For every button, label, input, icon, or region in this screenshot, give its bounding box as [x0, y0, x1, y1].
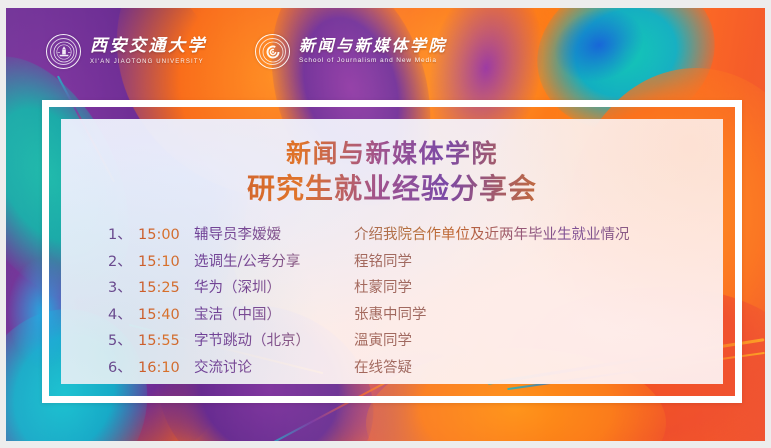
agenda-time: 15:55 — [138, 333, 194, 349]
agenda-time: 15:10 — [138, 254, 194, 270]
logo-school-en: School of Journalism and New Media — [299, 58, 447, 65]
poster-frame-inner: 新闻与新媒体学院 研究生就业经验分享会 1、 15:00 辅导员李嫒嫒 介绍我院… — [61, 119, 723, 384]
logo-xjtu-text: 西安交通大学 XI'AN JIAOTONG UNIVERSITY — [90, 38, 207, 65]
poster-content: 新闻与新媒体学院 研究生就业经验分享会 1、 15:00 辅导员李嫒嫒 介绍我院… — [61, 119, 723, 384]
title-line-1: 新闻与新媒体学院 — [61, 139, 723, 170]
agenda-index: 1、 — [108, 223, 138, 244]
agenda-index: 2、 — [108, 250, 138, 271]
title-line-2: 研究生就业经验分享会 — [61, 172, 723, 206]
agenda-speaker: 杜蒙同学 — [354, 276, 699, 297]
agenda-list: 1、 15:00 辅导员李嫒嫒 介绍我院合作单位及近两年毕业生就业情况 2、 1… — [108, 223, 699, 382]
agenda-topic: 字节跳动（北京） — [194, 329, 354, 350]
logo-school-journalism-new-media: 新闻与新媒体学院 School of Journalism and New Me… — [255, 34, 447, 69]
agenda-row: 5、 15:55 字节跳动（北京） 溫寅同学 — [108, 329, 699, 356]
agenda-time: 15:25 — [138, 280, 194, 296]
agenda-row: 4、 15:40 宝洁（中国） 张惠中同学 — [108, 303, 699, 330]
agenda-row: 3、 15:25 华为（深圳） 杜蒙同学 — [108, 276, 699, 303]
agenda-topic: 辅导员李嫒嫒 — [194, 223, 354, 244]
agenda-speaker: 张惠中同学 — [354, 303, 699, 324]
agenda-speaker: 溫寅同学 — [354, 329, 699, 350]
logo-school-cn: 新闻与新媒体学院 — [299, 38, 447, 54]
header-logos: 西安交通大学 XI'AN JIAOTONG UNIVERSITY 新闻与新媒体学… — [46, 34, 447, 69]
agenda-index: 5、 — [108, 329, 138, 350]
agenda-speaker: 程铭同学 — [354, 250, 699, 271]
logo-school-text: 新闻与新媒体学院 School of Journalism and New Me… — [299, 38, 447, 65]
agenda-topic: 宝洁（中国） — [194, 303, 354, 324]
logo-xian-jiaotong-university: 西安交通大学 XI'AN JIAOTONG UNIVERSITY — [46, 34, 207, 69]
agenda-speaker: 在线答疑 — [354, 356, 699, 377]
agenda-speaker: 介绍我院合作单位及近两年毕业生就业情况 — [354, 223, 699, 244]
agenda-row: 1、 15:00 辅导员李嫒嫒 介绍我院合作单位及近两年毕业生就业情况 — [108, 223, 699, 250]
slide: 西安交通大学 XI'AN JIAOTONG UNIVERSITY 新闻与新媒体学… — [6, 8, 765, 441]
poster-title: 新闻与新媒体学院 研究生就业经验分享会 — [61, 139, 723, 206]
agenda-index: 4、 — [108, 303, 138, 324]
school-seal-icon — [255, 34, 290, 69]
agenda-index: 6、 — [108, 356, 138, 377]
agenda-row: 2、 15:10 选调生/公考分享 程铭同学 — [108, 250, 699, 277]
agenda-index: 3、 — [108, 276, 138, 297]
university-seal-icon — [46, 34, 81, 69]
agenda-topic: 华为（深圳） — [194, 276, 354, 297]
agenda-time: 15:40 — [138, 307, 194, 323]
agenda-time: 16:10 — [138, 360, 194, 376]
agenda-topic: 选调生/公考分享 — [194, 250, 354, 271]
logo-xjtu-cn: 西安交通大学 — [90, 38, 207, 55]
poster-frame: 新闻与新媒体学院 研究生就业经验分享会 1、 15:00 辅导员李嫒嫒 介绍我院… — [42, 100, 742, 403]
agenda-time: 15:00 — [138, 227, 194, 243]
logo-xjtu-en: XI'AN JIAOTONG UNIVERSITY — [90, 59, 207, 65]
poster-canvas: 西安交通大学 XI'AN JIAOTONG UNIVERSITY 新闻与新媒体学… — [0, 0, 771, 448]
agenda-row: 6、 16:10 交流讨论 在线答疑 — [108, 356, 699, 383]
agenda-topic: 交流讨论 — [194, 356, 354, 377]
